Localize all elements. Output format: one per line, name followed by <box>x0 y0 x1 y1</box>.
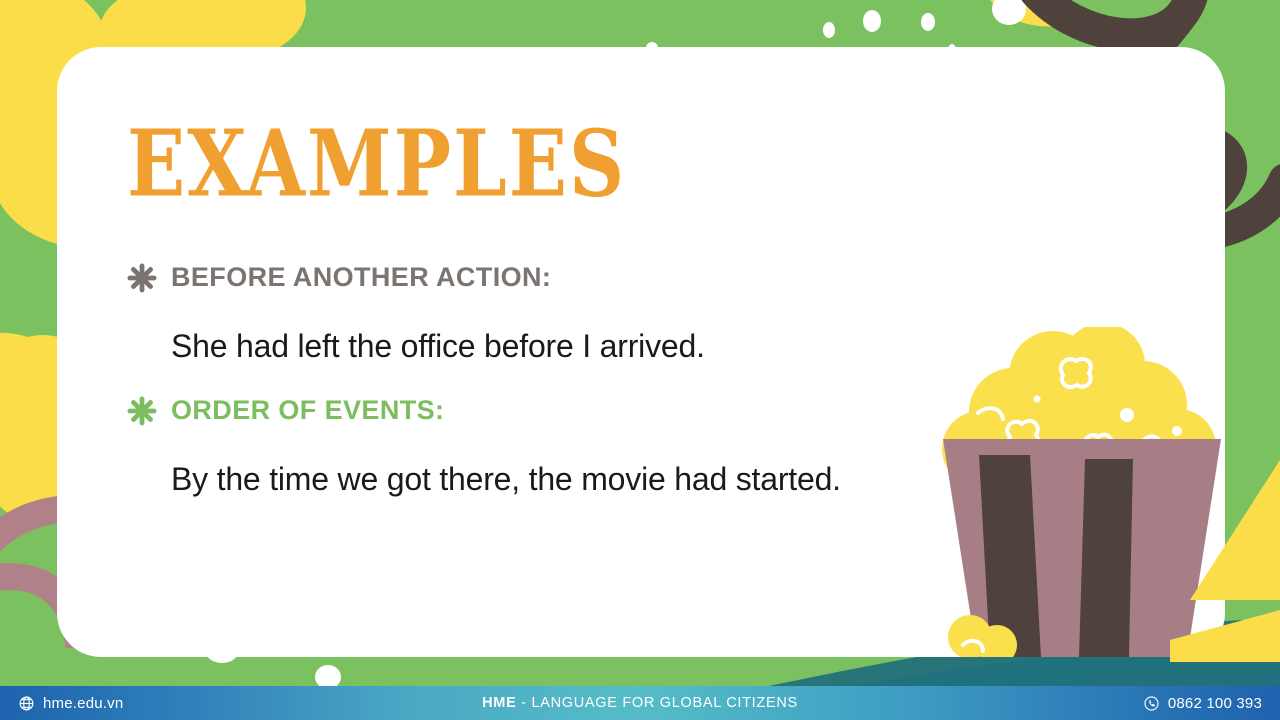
bullet-heading: ORDER OF EVENTS: <box>171 392 444 428</box>
footer-tagline: HME - LANGUAGE FOR GLOBAL CITIZENS <box>0 695 1280 711</box>
yellow-ray-shape <box>1170 400 1280 670</box>
phone-icon <box>1143 695 1160 712</box>
spacer <box>127 366 1067 392</box>
footer-phone[interactable]: 0862 100 393 <box>1143 695 1262 712</box>
page-title: EXAMPLES <box>127 119 626 211</box>
slide: EXAMPLES BEFORE ANOTHER ACTION: Sh <box>0 0 1280 720</box>
bullet-heading: BEFORE ANOTHER ACTION: <box>171 259 551 295</box>
bullet-item-order-of-events: ORDER OF EVENTS: <box>127 392 1067 438</box>
footer-phone-label: 0862 100 393 <box>1168 695 1262 712</box>
asterisk-icon <box>127 263 157 293</box>
asterisk-icon <box>127 396 157 426</box>
example-sentence: By the time we got there, the movie had … <box>171 459 1067 499</box>
example-sentence: She had left the office before I arrived… <box>171 326 1067 366</box>
footer-bar: hme.edu.vn HME - LANGUAGE FOR GLOBAL CIT… <box>0 686 1280 720</box>
footer-brand: HME <box>482 695 516 711</box>
bullet-item-before-another-action: BEFORE ANOTHER ACTION: <box>127 259 1067 305</box>
content-card: EXAMPLES BEFORE ANOTHER ACTION: Sh <box>57 47 1225 657</box>
footer-tagline-label: - LANGUAGE FOR GLOBAL CITIZENS <box>521 695 798 711</box>
bullet-list: BEFORE ANOTHER ACTION: She had left the … <box>127 259 1067 499</box>
